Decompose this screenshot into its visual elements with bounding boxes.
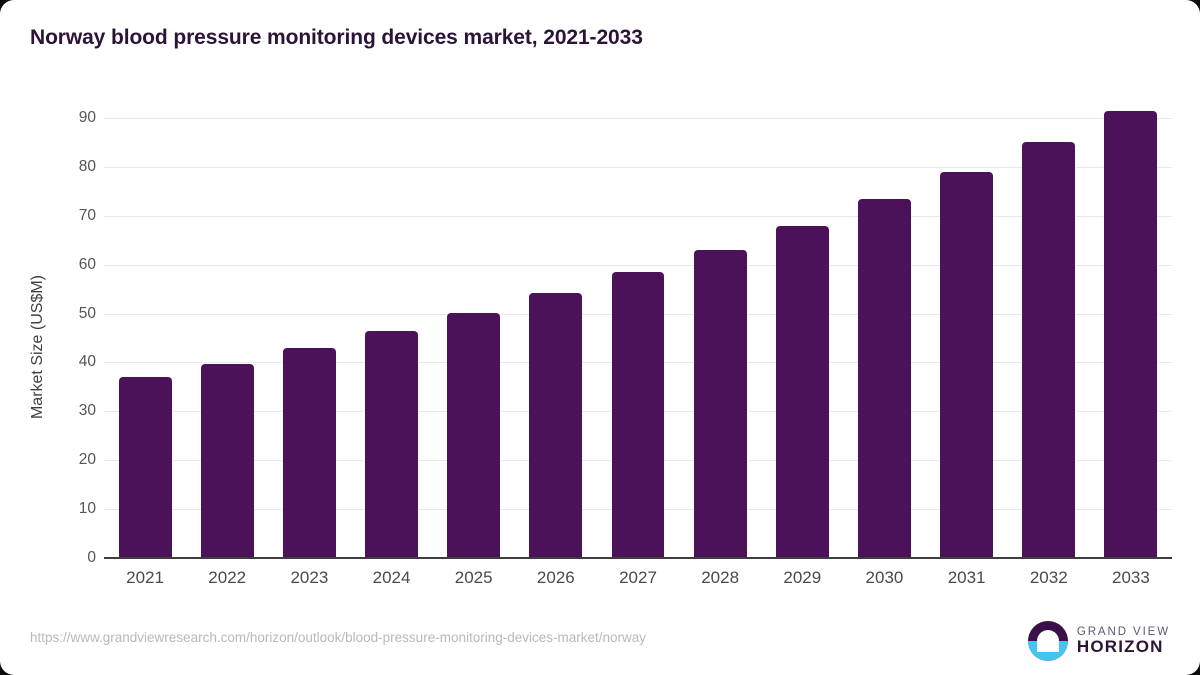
gridline [104,265,1172,266]
y-axis-tick-label: 0 [0,549,96,567]
horizon-sun-icon [1028,621,1068,661]
y-axis-tick-label: 50 [0,305,96,323]
plot-area [104,118,1172,558]
logo-line-1 [1040,644,1056,647]
logo-text-bottom: HORIZON [1077,638,1170,656]
brand-logo[interactable]: GRAND VIEW HORIZON [1028,620,1170,662]
y-axis-tick-label: 10 [0,500,96,518]
x-axis-tick-label: 2031 [948,568,986,588]
y-axis-tick-label: 90 [0,109,96,127]
y-axis-tick-label: 30 [0,402,96,420]
x-axis-tick-label: 2032 [1030,568,1068,588]
bar-2025[interactable] [447,313,500,558]
y-axis-tick-label: 40 [0,353,96,371]
gridline [104,216,1172,217]
bar-2024[interactable] [365,331,418,558]
x-axis-tick-label: 2028 [701,568,739,588]
bar-2021[interactable] [119,377,172,558]
x-axis-tick-label: 2021 [126,568,164,588]
x-axis-tick-label: 2024 [373,568,411,588]
gridline [104,167,1172,168]
y-axis-tick-labels: 0102030405060708090 [0,0,96,675]
bar-2022[interactable] [201,364,254,558]
source-url[interactable]: https://www.grandviewresearch.com/horizo… [30,630,646,645]
bar-2032[interactable] [1022,142,1075,558]
x-axis-tick-label: 2022 [208,568,246,588]
logo-wordmark: GRAND VIEW HORIZON [1077,626,1170,656]
bar-2030[interactable] [858,199,911,558]
y-axis-tick-label: 60 [0,256,96,274]
x-axis-tick-label: 2025 [455,568,493,588]
page-title: Norway blood pressure monitoring devices… [30,26,643,50]
logo-line-2 [1043,650,1053,653]
bar-2027[interactable] [612,272,665,558]
chart-canvas: Norway blood pressure monitoring devices… [0,0,1200,675]
x-axis-tick-label: 2026 [537,568,575,588]
x-axis-line [104,557,1172,559]
gridline [104,118,1172,119]
bar-2023[interactable] [283,348,336,558]
bar-2031[interactable] [940,172,993,558]
bar-2028[interactable] [694,250,747,558]
logo-dome-shape [1037,630,1059,652]
x-axis-tick-label: 2023 [290,568,328,588]
y-axis-tick-label: 20 [0,451,96,469]
y-axis-title: Market Size (US$M) [29,217,47,477]
y-axis-tick-label: 80 [0,158,96,176]
x-axis-tick-labels: 2021202220232024202520262027202820292030… [104,568,1172,602]
x-axis-tick-label: 2033 [1112,568,1150,588]
x-axis-tick-label: 2027 [619,568,657,588]
x-axis-tick-label: 2029 [783,568,821,588]
bar-2026[interactable] [529,293,582,558]
bar-2033[interactable] [1104,111,1157,558]
y-axis-tick-label: 70 [0,207,96,225]
x-axis-tick-label: 2030 [866,568,904,588]
bar-2029[interactable] [776,226,829,558]
